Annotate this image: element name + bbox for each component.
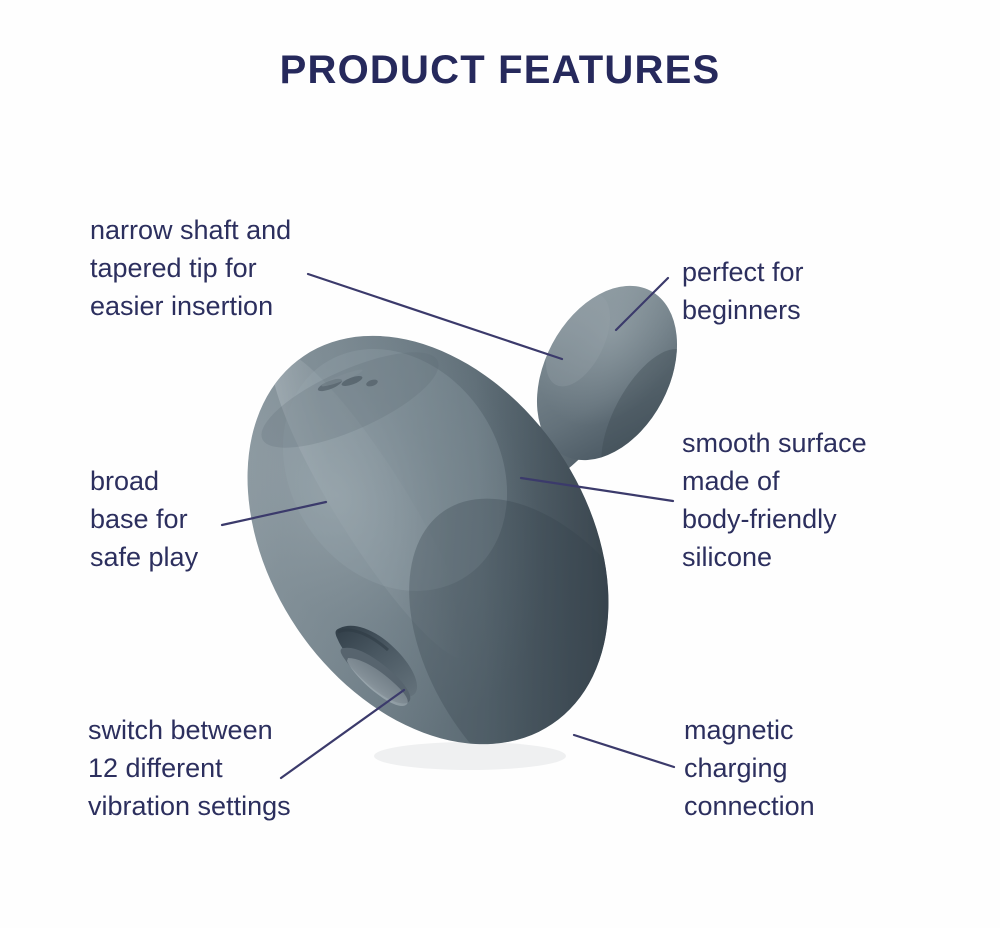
callout-line: vibration settings xyxy=(88,787,291,825)
product-shadow xyxy=(374,742,566,770)
callout-line: connection xyxy=(684,787,815,825)
callout-line: base for xyxy=(90,500,198,538)
callout-line: broad xyxy=(90,462,198,500)
product-features-diagram: PRODUCT FEATURES xyxy=(0,0,1000,928)
callout-magnetic-charging: magnetic charging connection xyxy=(684,711,815,825)
callout-line: perfect for xyxy=(682,253,804,291)
callout-line: charging xyxy=(684,749,815,787)
callout-line: switch between xyxy=(88,711,291,749)
callout-line: safe play xyxy=(90,538,198,576)
callout-broad-base: broad base for safe play xyxy=(90,462,198,576)
callout-narrow-shaft: narrow shaft and tapered tip for easier … xyxy=(90,211,291,325)
callout-line: beginners xyxy=(682,291,804,329)
callout-line: narrow shaft and xyxy=(90,211,291,249)
callout-smooth-surface: smooth surface made of body-friendly sil… xyxy=(682,424,867,576)
callout-line: tapered tip for xyxy=(90,249,291,287)
callout-line: easier insertion xyxy=(90,287,291,325)
callout-line: made of xyxy=(682,462,867,500)
callout-line: magnetic xyxy=(684,711,815,749)
callout-line: body-friendly xyxy=(682,500,867,538)
callout-line: smooth surface xyxy=(682,424,867,462)
callout-perfect-for-beginners: perfect for beginners xyxy=(682,253,804,329)
callout-line: silicone xyxy=(682,538,867,576)
callout-vibration-settings: switch between 12 different vibration se… xyxy=(88,711,291,825)
callout-line: 12 different xyxy=(88,749,291,787)
